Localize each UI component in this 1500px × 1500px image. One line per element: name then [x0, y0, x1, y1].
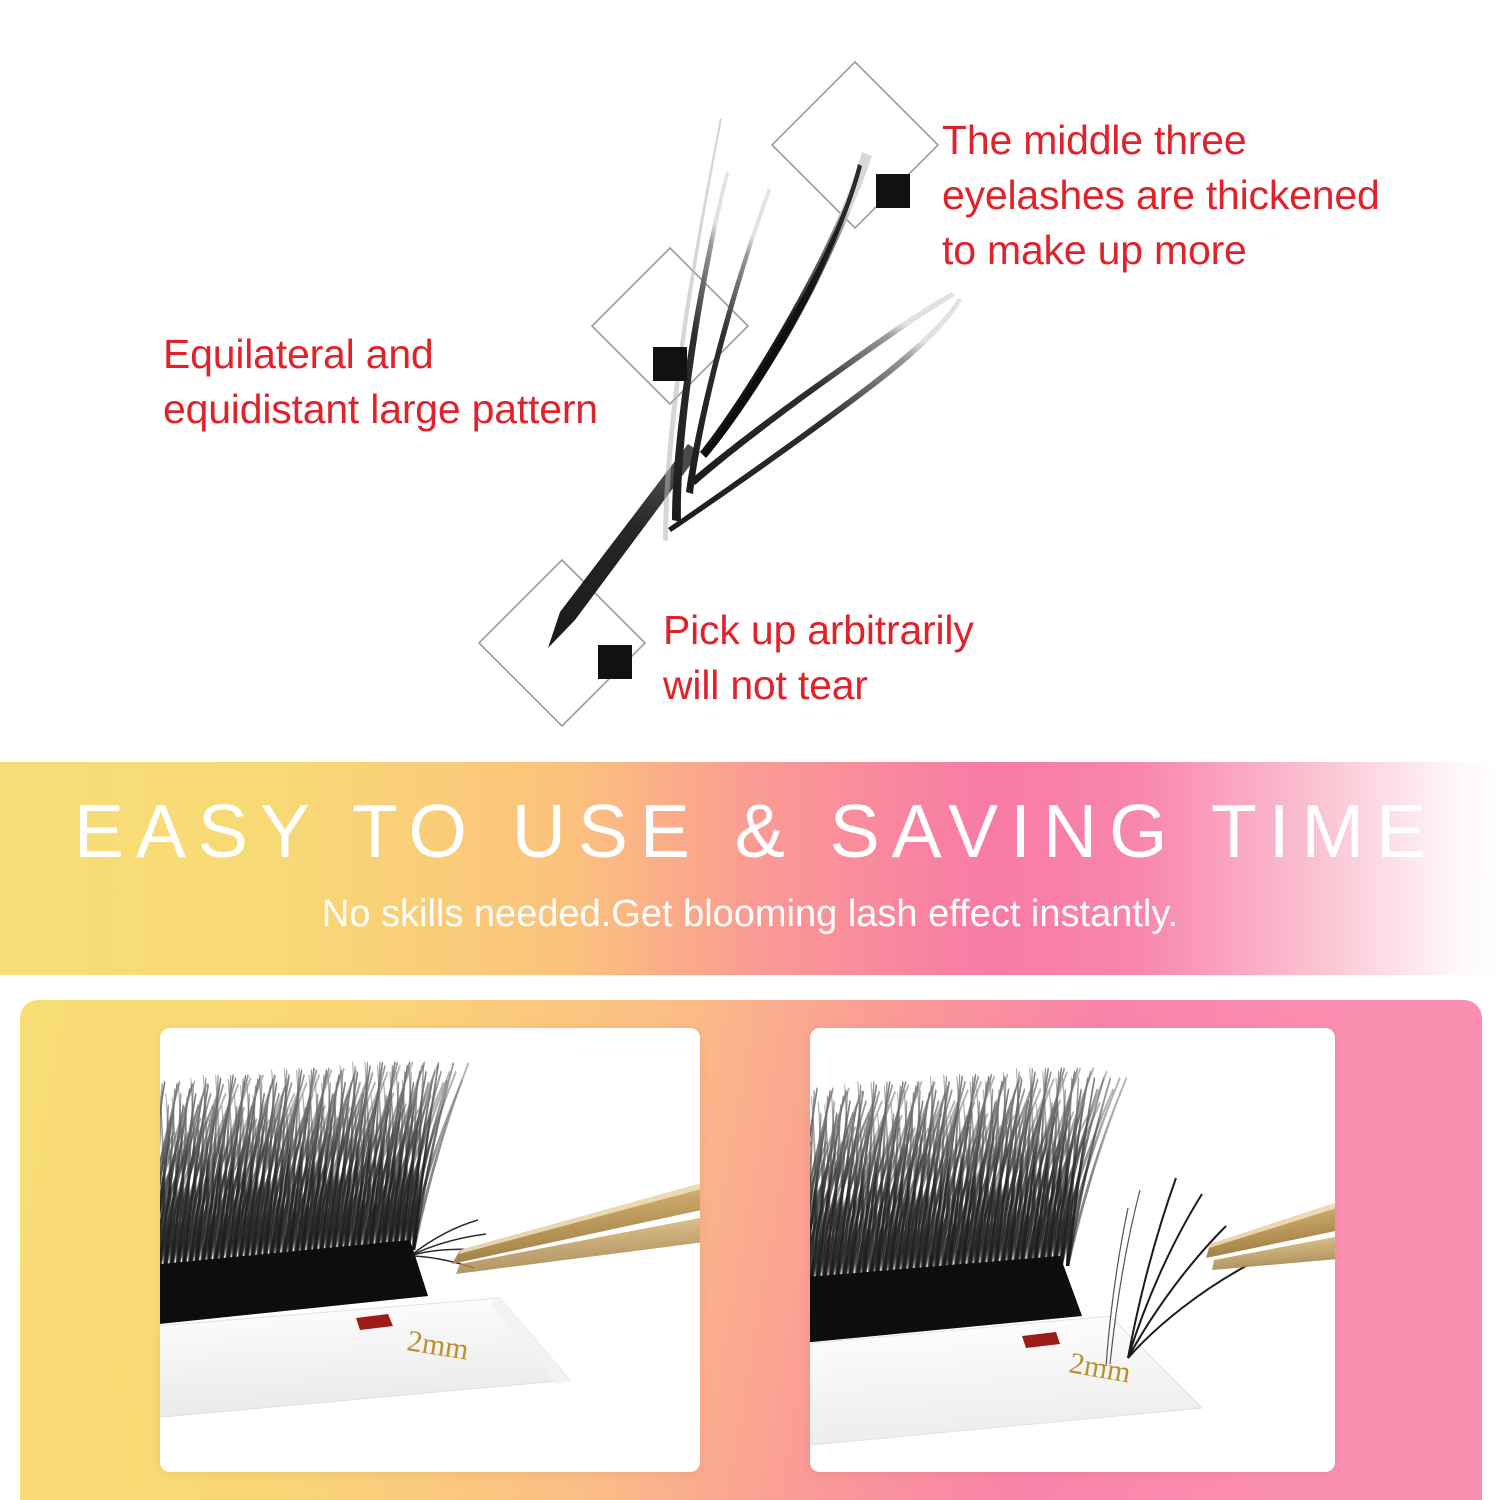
lash-strand-outer-right — [668, 298, 962, 532]
headline-banner: EASY TO USE & SAVING TIME No skills need… — [0, 762, 1500, 975]
callout-pick-up-arbitrarily: Pick up arbitrarily will not tear — [663, 603, 974, 713]
marker-square-middle — [653, 347, 687, 381]
photo-card-lash-tray: 2mm — [160, 1028, 700, 1472]
marker-diamond-lower — [479, 560, 645, 726]
photo-card-lash-pickup: 2mm — [810, 1028, 1335, 1472]
photo-lash-tray-tweezers: 2mm — [160, 1028, 700, 1472]
photo-lash-pickup: 2mm — [810, 1028, 1335, 1472]
product-photo-panel: 2mm — [20, 1000, 1482, 1500]
marker-square-lower — [598, 645, 632, 679]
banner-title: EASY TO USE & SAVING TIME — [0, 794, 1500, 869]
callout-equilateral-pattern: Equilateral and equidistant large patter… — [163, 327, 598, 437]
banner-subtitle: No skills needed.Get blooming lash effec… — [0, 895, 1500, 933]
feature-diagram-section: The middle three eyelashes are thickened… — [0, 0, 1500, 762]
callout-middle-three-lashes: The middle three eyelashes are thickened… — [942, 113, 1380, 278]
marker-square-upper — [876, 174, 910, 208]
marker-diamond-upper — [772, 62, 938, 228]
